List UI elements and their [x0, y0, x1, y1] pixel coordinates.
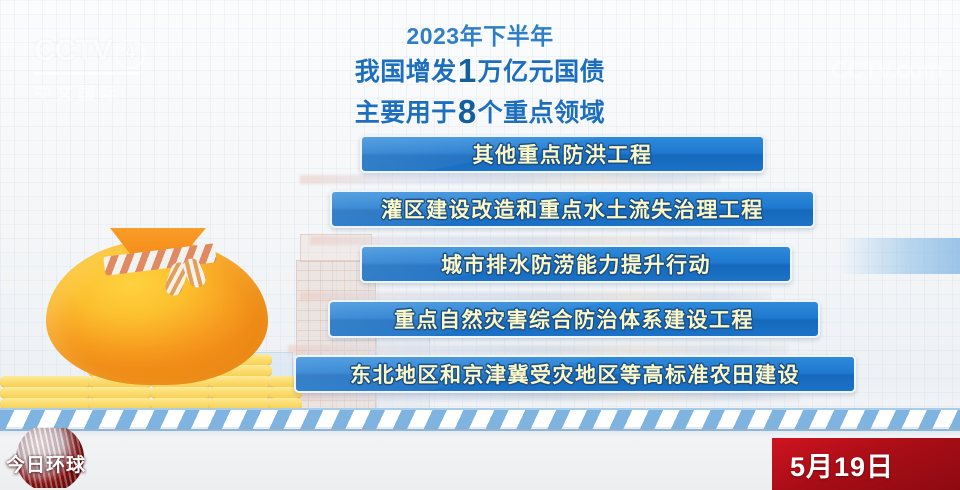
list-item-label: 城市排水防涝能力提升行动: [441, 249, 711, 279]
list-item-bar-5[interactable]: 东北地区和京津冀受灾地区等高标准农田建设: [294, 355, 856, 393]
program-logo: 今日环球: [2, 428, 114, 488]
date-badge: 5月19日: [772, 438, 960, 490]
ground-shadow: [0, 427, 960, 437]
list-item-label: 灌区建设改造和重点水土流失治理工程: [381, 194, 764, 224]
list-item-bar-4[interactable]: 重点自然灾害综合防治体系建设工程: [328, 300, 820, 338]
program-logo-label: 今日环球: [6, 450, 86, 477]
priority-areas-list: 其他重点防洪工程 灌区建设改造和重点水土流失治理工程 城市排水防涝能力提升行动 …: [0, 0, 960, 420]
list-item-bar-1[interactable]: 其他重点防洪工程: [360, 135, 765, 173]
date-badge-text: 5月19日: [772, 445, 894, 484]
list-item-label: 东北地区和京津冀受灾地区等高标准农田建设: [350, 359, 800, 389]
news-graphic-screen: 2023年下半年 我国增发1万亿元国债 主要用于8个重点领域 其他重点防洪工程 …: [0, 0, 960, 490]
list-item-label: 重点自然灾害综合防治体系建设工程: [394, 304, 754, 334]
list-item-bar-3[interactable]: 城市排水防涝能力提升行动: [360, 245, 792, 283]
list-item-label: 其他重点防洪工程: [473, 139, 653, 169]
list-item-bar-2[interactable]: 灌区建设改造和重点水土流失治理工程: [330, 190, 815, 228]
